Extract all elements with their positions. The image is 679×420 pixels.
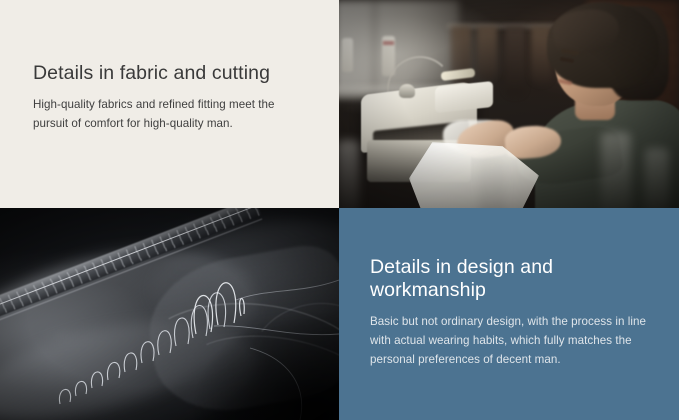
panel-stitching-image bbox=[0, 208, 339, 420]
panel-workshop-image bbox=[339, 0, 679, 208]
fabric-text-block: Details in fabric and cutting High-quali… bbox=[33, 62, 315, 134]
design-headline: Details in design and workmanship bbox=[370, 256, 661, 302]
design-text-block: Details in design and workmanship Basic … bbox=[370, 256, 661, 369]
photo-vignette bbox=[0, 208, 339, 420]
panel-fabric-text: Details in fabric and cutting High-quali… bbox=[0, 0, 339, 208]
stitching-photo bbox=[0, 208, 339, 420]
fabric-body-copy: High-quality fabrics and refined fitting… bbox=[33, 96, 305, 134]
panel-design-text: Details in design and workmanship Basic … bbox=[339, 208, 679, 420]
fabric-headline: Details in fabric and cutting bbox=[33, 62, 315, 85]
photo-vignette bbox=[339, 0, 679, 208]
workshop-photo bbox=[339, 0, 679, 208]
feature-grid-page: Details in fabric and cutting High-quali… bbox=[0, 0, 679, 420]
design-body-copy: Basic but not ordinary design, with the … bbox=[370, 313, 656, 369]
